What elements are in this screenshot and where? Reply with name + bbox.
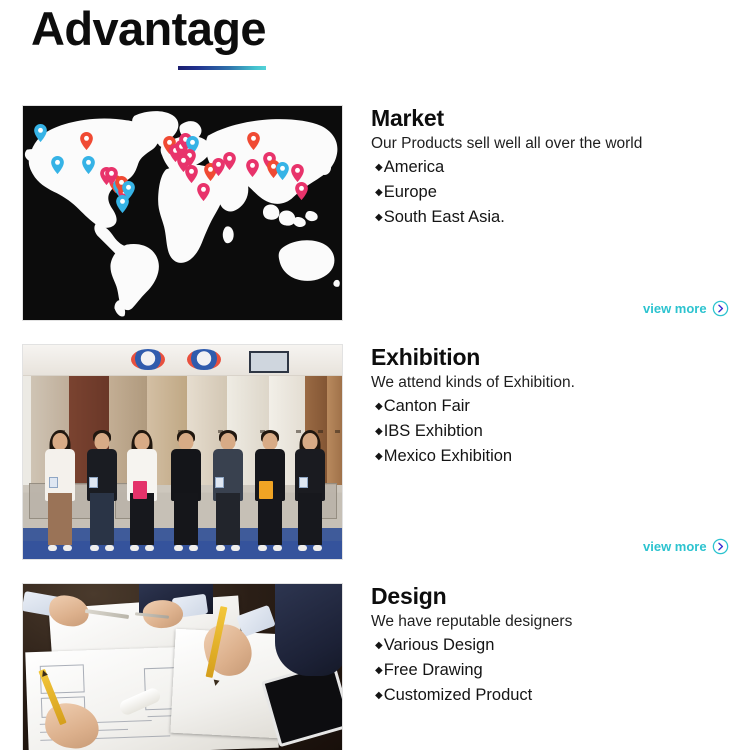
exhibition-view-more-link[interactable]: view more	[643, 538, 729, 555]
exhibition-heading: Exhibition	[371, 344, 743, 371]
map-pin-blue	[82, 156, 95, 174]
list-item-label: Various Design	[384, 636, 495, 654]
legs	[258, 493, 282, 545]
shoe	[298, 545, 307, 551]
booth-person	[253, 433, 287, 551]
shoe	[105, 545, 114, 551]
pencil-tip-icon	[212, 679, 219, 686]
map-pin-pink	[295, 182, 308, 200]
exhibition-lede: We attend kinds of Exhibition.	[371, 372, 743, 393]
folder	[259, 481, 273, 499]
exhibition-booth-photo	[23, 345, 342, 559]
folder	[133, 481, 147, 499]
design-desk-photo	[23, 584, 342, 750]
legs	[216, 493, 240, 545]
booth-person	[127, 433, 157, 551]
map-pin-red	[80, 132, 93, 150]
shoe	[130, 545, 139, 551]
advantage-row-exhibition: Exhibition We attend kinds of Exhibition…	[0, 344, 750, 560]
diamond-bullet-icon: ◆	[375, 426, 383, 437]
legs	[130, 493, 154, 545]
list-item-label: Canton Fair	[384, 397, 470, 415]
shoe	[216, 545, 225, 551]
legs	[174, 493, 198, 545]
list-item: ◆Mexico Exhibition	[375, 444, 743, 469]
person-suit	[275, 584, 342, 676]
exhibition-image[interactable]	[22, 344, 343, 560]
map-pin-pink	[185, 165, 198, 183]
map-pin-blue	[116, 195, 129, 213]
list-item-label: America	[384, 158, 445, 176]
badge	[89, 477, 98, 488]
list-item-label: Free Drawing	[384, 661, 483, 679]
list-item-label: IBS Exhibtion	[384, 422, 483, 440]
diamond-bullet-icon: ◆	[375, 401, 383, 412]
map-pin-blue	[51, 156, 64, 174]
shoe	[174, 545, 183, 551]
door-panel	[327, 375, 342, 495]
booth-wall-frame	[249, 351, 289, 373]
world-map-graphic	[23, 106, 342, 320]
page-title: Advantage	[31, 4, 266, 53]
shoe	[48, 545, 57, 551]
map-pin-red	[247, 132, 260, 150]
shoe	[258, 545, 267, 551]
list-item-label: Customized Product	[384, 686, 533, 704]
design-heading: Design	[371, 583, 743, 610]
list-item: ◆IBS Exhibtion	[375, 419, 743, 444]
head	[53, 433, 68, 450]
list-item-label: Europe	[384, 183, 437, 201]
view-more-label: view more	[643, 301, 707, 316]
chevron-right-circle-icon	[712, 538, 729, 555]
market-image[interactable]	[22, 105, 343, 321]
booth-person	[45, 433, 75, 551]
advantage-row-market: Market Our Products sell well all over t…	[0, 105, 750, 321]
list-item-label: South East Asia.	[384, 208, 505, 226]
map-pin-pink	[291, 164, 304, 182]
market-copy: Market Our Products sell well all over t…	[371, 105, 743, 230]
map-pin-pink	[223, 152, 236, 170]
booth-valance	[23, 345, 342, 376]
market-bullet-list: ◆America ◆Europe ◆South East Asia.	[371, 155, 743, 230]
badge	[49, 477, 58, 488]
title-accent-rule	[178, 66, 266, 70]
market-heading: Market	[371, 105, 743, 132]
list-item: ◆Free Drawing	[375, 658, 743, 683]
market-lede: Our Products sell well all over the worl…	[371, 133, 743, 154]
design-image[interactable]	[22, 583, 343, 750]
chevron-right-circle-icon	[712, 300, 729, 317]
badge	[299, 477, 308, 488]
booth-person	[295, 433, 325, 551]
list-item: ◆South East Asia.	[375, 205, 743, 230]
diamond-bullet-icon: ◆	[375, 162, 383, 173]
shoe	[189, 545, 198, 551]
badge	[215, 477, 224, 488]
list-item: ◆Customized Product	[375, 683, 743, 708]
list-item-label: Mexico Exhibition	[384, 447, 512, 465]
map-pin-blue	[34, 124, 47, 142]
advantage-row-design: Design We have reputable designers ◆Vari…	[0, 583, 750, 750]
legs	[48, 493, 72, 545]
booth-person	[211, 433, 245, 551]
map-pin-pink	[197, 183, 210, 201]
booth-brand-logo-icon	[187, 349, 221, 370]
booth-brand-logo-icon	[131, 349, 165, 370]
design-bullet-list: ◆Various Design ◆Free Drawing ◆Customize…	[371, 633, 743, 708]
list-item: ◆America	[375, 155, 743, 180]
exhibition-copy: Exhibition We attend kinds of Exhibition…	[371, 344, 743, 469]
list-item: ◆Canton Fair	[375, 394, 743, 419]
diamond-bullet-icon: ◆	[375, 640, 383, 651]
head	[221, 433, 236, 450]
map-pin-pink	[246, 159, 259, 177]
list-item: ◆Various Design	[375, 633, 743, 658]
shoe	[145, 545, 154, 551]
legs	[298, 493, 322, 545]
design-copy: Design We have reputable designers ◆Vari…	[371, 583, 743, 708]
shoe	[231, 545, 240, 551]
legs	[90, 493, 114, 545]
list-item: ◆Europe	[375, 180, 743, 205]
diamond-bullet-icon: ◆	[375, 187, 383, 198]
head	[179, 433, 194, 450]
head	[263, 433, 278, 450]
diamond-bullet-icon: ◆	[375, 665, 383, 676]
market-view-more-link[interactable]: view more	[643, 300, 729, 317]
exhibition-bullet-list: ◆Canton Fair ◆IBS Exhibtion ◆Mexico Exhi…	[371, 394, 743, 469]
shoe	[313, 545, 322, 551]
head	[135, 433, 150, 450]
diamond-bullet-icon: ◆	[375, 690, 383, 701]
shoe	[63, 545, 72, 551]
diamond-bullet-icon: ◆	[375, 212, 383, 223]
head	[95, 433, 110, 450]
view-more-label: view more	[643, 539, 707, 554]
booth-person	[169, 433, 203, 551]
diamond-bullet-icon: ◆	[375, 451, 383, 462]
shoe	[90, 545, 99, 551]
design-lede: We have reputable designers	[371, 611, 743, 632]
map-pin-blue	[276, 162, 289, 180]
head	[303, 433, 318, 450]
booth-person	[85, 433, 119, 551]
shoe	[273, 545, 282, 551]
